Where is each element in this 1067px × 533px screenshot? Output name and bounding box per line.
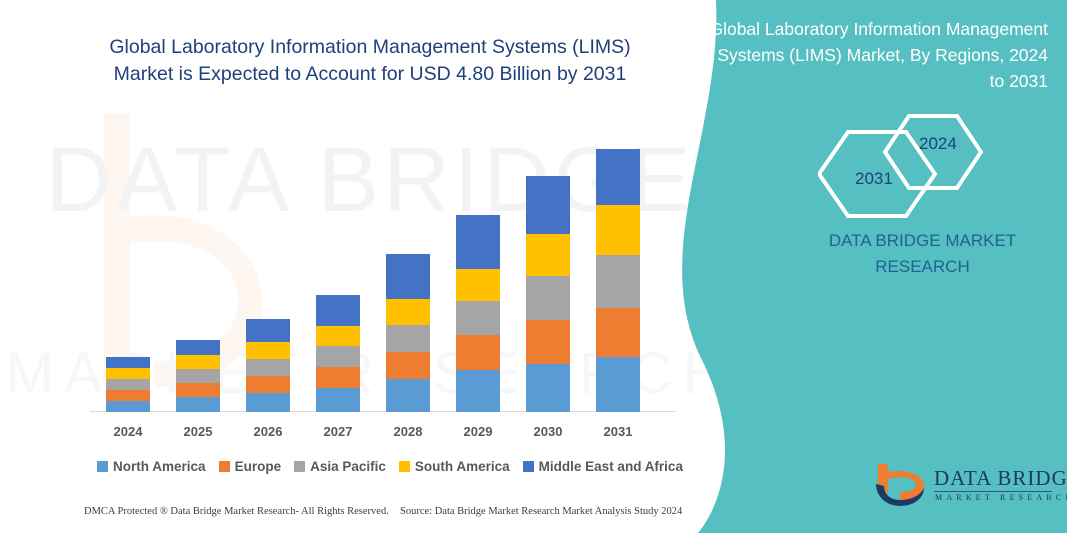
legend-swatch-icon xyxy=(97,461,108,472)
logo-subtitle: MARKET RESEARCH xyxy=(935,493,1067,502)
bar-segment xyxy=(106,357,150,368)
bar-segment xyxy=(386,254,430,299)
bar-segment xyxy=(596,205,640,255)
bar-segment xyxy=(316,295,360,326)
footer: DMCA Protected ® Data Bridge Market Rese… xyxy=(0,506,740,528)
logo-wordmark: DATA BRIDGE xyxy=(934,466,1067,491)
bar-column-2030 xyxy=(526,176,570,412)
bar-column-2026 xyxy=(246,319,290,412)
bar-segment xyxy=(526,320,570,364)
footer-source: Source: Data Bridge Market Research Mark… xyxy=(400,506,682,517)
panel-brand-line-2: RESEARCH xyxy=(800,254,1045,280)
legend-swatch-icon xyxy=(523,461,534,472)
bar-segment xyxy=(176,340,220,355)
hexagon-2031-label: 2031 xyxy=(855,169,893,189)
hexagon-group: 2031 2024 xyxy=(818,112,1048,222)
x-axis-label-2030: 2030 xyxy=(516,424,580,439)
bar-segment xyxy=(246,342,290,359)
bar-column-2025 xyxy=(176,340,220,412)
bar-segment xyxy=(456,370,500,412)
stacked-bar-chart xyxy=(90,110,690,412)
x-axis-labels: 20242025202620272028202920302031 xyxy=(90,424,690,444)
panel-brand-text: DATA BRIDGE MARKET RESEARCH xyxy=(800,228,1045,280)
bar-segment xyxy=(596,308,640,357)
bar-segment xyxy=(316,388,360,412)
bar-segment xyxy=(526,176,570,234)
logo-mark-icon xyxy=(874,462,926,508)
bar-segment xyxy=(176,397,220,412)
bar-segment xyxy=(246,376,290,393)
legend-item[interactable]: Asia Pacific xyxy=(294,459,386,474)
bar-segment xyxy=(176,383,220,397)
legend-swatch-icon xyxy=(399,461,410,472)
panel-brand-line-1: DATA BRIDGE MARKET xyxy=(800,228,1045,254)
legend-label: Asia Pacific xyxy=(310,459,386,474)
bar-segment xyxy=(596,357,640,412)
bar-segment xyxy=(456,215,500,269)
bar-segment xyxy=(106,390,150,401)
legend-item[interactable]: Middle East and Africa xyxy=(523,459,683,474)
bar-segment xyxy=(316,346,360,367)
bar-segment xyxy=(246,359,290,376)
bar-segment xyxy=(106,379,150,390)
page-title-line-1: Global Laboratory Information Management… xyxy=(60,34,680,61)
legend-item[interactable]: Europe xyxy=(219,459,282,474)
footer-copyright: DMCA Protected ® Data Bridge Market Rese… xyxy=(84,506,389,517)
x-axis-label-2026: 2026 xyxy=(236,424,300,439)
chart-legend: North AmericaEuropeAsia PacificSouth Ame… xyxy=(90,456,690,476)
legend-swatch-icon xyxy=(294,461,305,472)
page-title-line-2: Market is Expected to Account for USD 4.… xyxy=(60,61,680,88)
bar-segment xyxy=(456,335,500,370)
logo-divider xyxy=(934,491,1052,492)
bar-segment xyxy=(106,368,150,379)
bar-segment xyxy=(386,379,430,412)
bar-column-2028 xyxy=(386,254,430,412)
bar-segment xyxy=(386,352,430,379)
bar-segment xyxy=(316,326,360,346)
bar-segment xyxy=(596,149,640,205)
bar-segment xyxy=(456,301,500,335)
legend-item[interactable]: South America xyxy=(399,459,510,474)
x-axis-label-2025: 2025 xyxy=(166,424,230,439)
data-bridge-logo: DATA BRIDGE MARKET RESEARCH xyxy=(874,462,1054,510)
legend-label: South America xyxy=(415,459,510,474)
bar-segment xyxy=(596,255,640,308)
page-title: Global Laboratory Information Management… xyxy=(60,34,680,88)
legend-item[interactable]: North America xyxy=(97,459,206,474)
bar-column-2027 xyxy=(316,295,360,412)
bar-segment xyxy=(106,401,150,412)
bar-column-2024 xyxy=(106,357,150,412)
hexagon-2024-label: 2024 xyxy=(919,134,957,154)
legend-swatch-icon xyxy=(219,461,230,472)
bar-segment xyxy=(176,369,220,383)
bar-segment xyxy=(176,355,220,369)
bar-segment xyxy=(456,269,500,301)
x-axis-label-2028: 2028 xyxy=(376,424,440,439)
x-axis-label-2024: 2024 xyxy=(96,424,160,439)
x-axis-label-2031: 2031 xyxy=(586,424,650,439)
bar-segment xyxy=(526,234,570,276)
bar-segment xyxy=(246,393,290,412)
bar-column-2031 xyxy=(596,149,640,412)
x-axis-label-2027: 2027 xyxy=(306,424,370,439)
infographic-canvas: DATA BRIDGE MARKET RESEARCH Global Labor… xyxy=(0,0,1067,533)
bar-segment xyxy=(386,299,430,325)
hexagon-shapes xyxy=(818,112,1048,222)
bar-segment xyxy=(316,367,360,388)
bar-column-2029 xyxy=(456,215,500,412)
bar-segment xyxy=(386,325,430,352)
bar-segment xyxy=(246,319,290,342)
panel-title: Global Laboratory Information Management… xyxy=(700,16,1048,94)
bar-segment xyxy=(526,364,570,412)
legend-label: Europe xyxy=(235,459,282,474)
bar-segment xyxy=(526,276,570,320)
legend-label: North America xyxy=(113,459,206,474)
x-axis-label-2029: 2029 xyxy=(446,424,510,439)
